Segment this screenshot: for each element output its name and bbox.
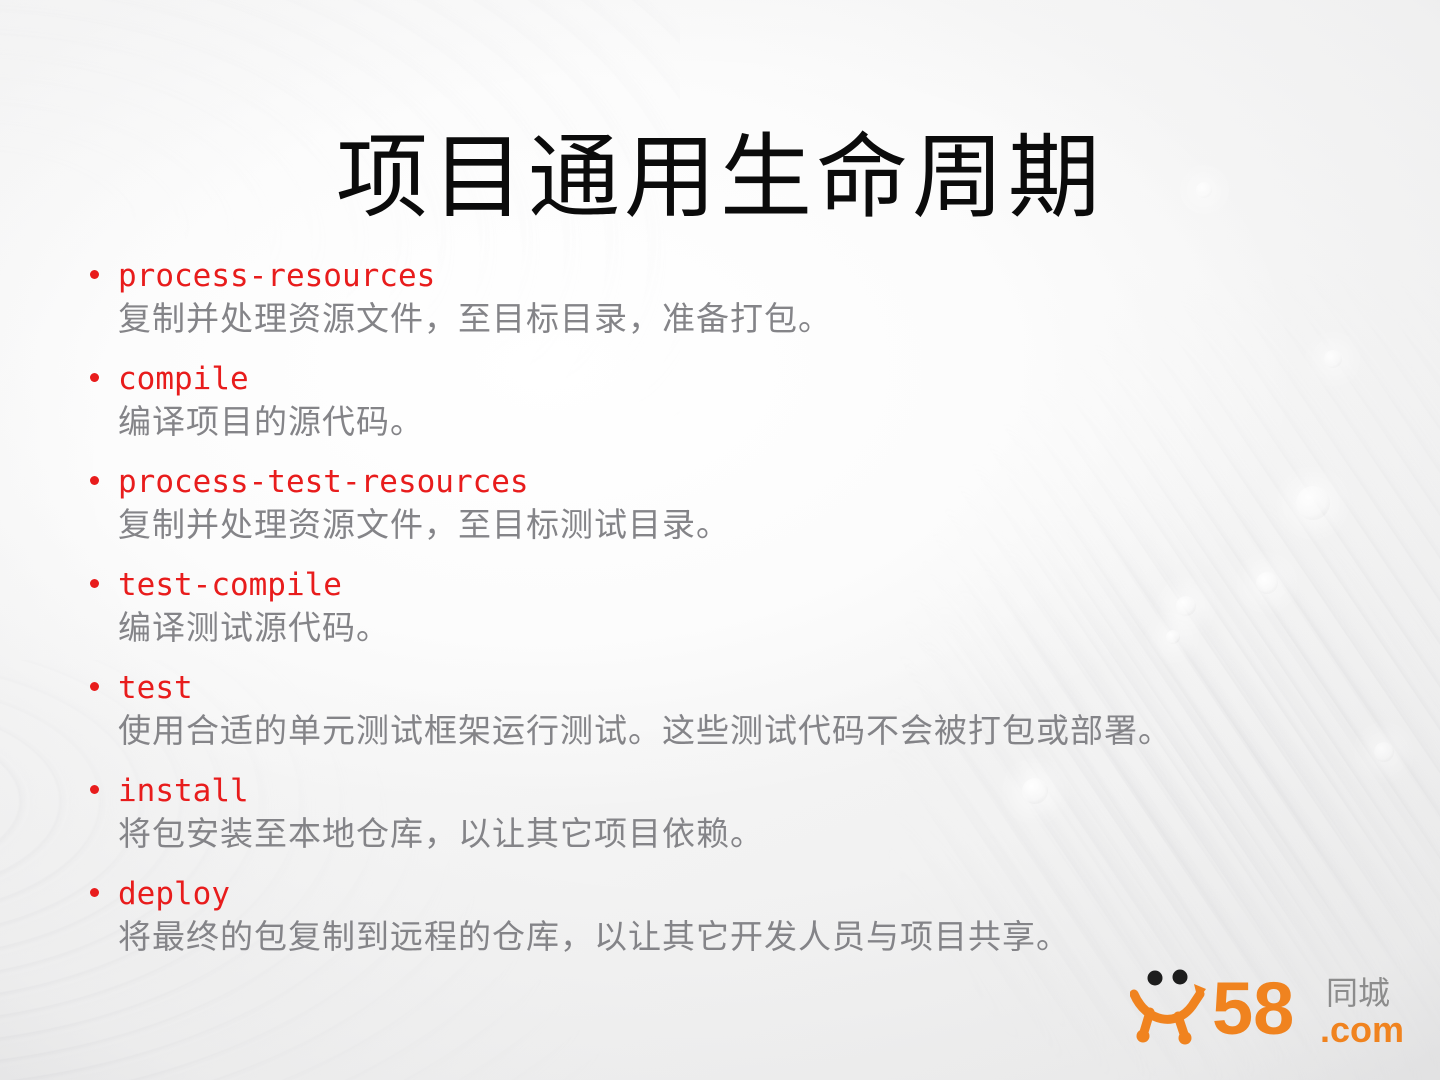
list-item: process-test-resources 复制并处理资源文件，至目标测试目录… (82, 464, 1382, 552)
phase-name: process-test-resources (118, 464, 1382, 500)
phase-description: 编译项目的源代码。 (118, 397, 1382, 449)
list-item: process-resources 复制并处理资源文件，至目标目录，准备打包。 (82, 258, 1382, 346)
slide-content: 项目通用生命周期 process-resources 复制并处理资源文件，至目标… (0, 0, 1440, 1080)
phase-description: 将最终的包复制到远程的仓库，以让其它开发人员与项目共享。 (118, 912, 1382, 964)
bullet-dot-icon (90, 785, 99, 794)
phase-name: process-resources (118, 258, 1382, 294)
bullet-dot-icon (90, 579, 99, 588)
list-item: deploy 将最终的包复制到远程的仓库，以让其它开发人员与项目共享。 (82, 876, 1382, 964)
phase-name: test-compile (118, 567, 1382, 603)
list-item: install 将包安装至本地仓库，以让其它项目依赖。 (82, 773, 1382, 861)
phase-name: compile (118, 361, 1382, 397)
presentation-slide: 项目通用生命周期 process-resources 复制并处理资源文件，至目标… (0, 0, 1440, 1080)
phase-description: 复制并处理资源文件，至目标目录，准备打包。 (118, 294, 1382, 346)
lifecycle-phase-list: process-resources 复制并处理资源文件，至目标目录，准备打包。 … (82, 258, 1382, 979)
bullet-dot-icon (90, 270, 99, 279)
phase-description: 使用合适的单元测试框架运行测试。这些测试代码不会被打包或部署。 (118, 706, 1382, 758)
brand-logo-58com: 58 同城 .com (1130, 962, 1404, 1058)
logo-number: 58 (1212, 967, 1294, 1050)
slide-title: 项目通用生命周期 (0, 128, 1440, 229)
phase-name: test (118, 670, 1382, 706)
logo-domain-suffix: .com (1320, 1009, 1404, 1050)
bullet-dot-icon (90, 373, 99, 382)
phase-description: 编译测试源代码。 (118, 603, 1382, 655)
list-item: test-compile 编译测试源代码。 (82, 567, 1382, 655)
phase-name: deploy (118, 876, 1382, 912)
phase-description: 将包安装至本地仓库，以让其它项目依赖。 (118, 809, 1382, 861)
logo-chinese-name: 同城 (1326, 975, 1390, 1011)
bullet-dot-icon (90, 682, 99, 691)
bullet-dot-icon (90, 476, 99, 485)
phase-name: install (118, 773, 1382, 809)
phase-description: 复制并处理资源文件，至目标测试目录。 (118, 500, 1382, 552)
mascot-icon (1134, 970, 1206, 1045)
bullet-dot-icon (90, 888, 99, 897)
list-item: test 使用合适的单元测试框架运行测试。这些测试代码不会被打包或部署。 (82, 670, 1382, 758)
list-item: compile 编译项目的源代码。 (82, 361, 1382, 449)
